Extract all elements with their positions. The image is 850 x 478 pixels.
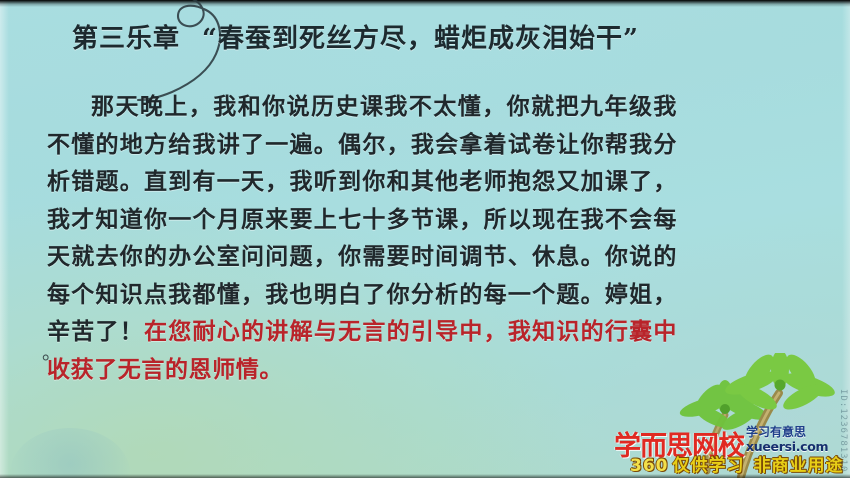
logo-notice-right: 非商业用途	[754, 456, 844, 476]
body-text-black: 那天晚上，我和你说历史课我不太懂，你就把九年级我不懂的地方给我讲了一遍。偶尔，我…	[47, 93, 677, 345]
title-quote: “春蚕到死丝方尽，蜡炬成灰泪始干”	[202, 24, 639, 54]
slide-title: 第三乐章“春蚕到死丝方尽，蜡炬成灰泪始干”	[72, 22, 792, 56]
top-letterbox-band	[0, 0, 850, 7]
left-edge-vignette	[0, 0, 9, 478]
watermark-logo: 学而思网校 学习有意思 xueersi.com 360仅供学习非商业用途	[614, 420, 814, 476]
logo-brand-text: 学而思网校	[614, 424, 744, 463]
logo-notice-left: 仅供学习	[673, 456, 745, 476]
vertical-watermark-code: ID:1236781310	[838, 389, 848, 472]
logo-url: xueersi.com	[746, 439, 826, 454]
background-blob-decoration	[10, 428, 130, 478]
title-chapter: 第三乐章	[72, 24, 180, 54]
right-edge-vignette	[842, 0, 850, 478]
bottom-letterbox-band	[0, 474, 850, 478]
logo-slogan: 学习有意思	[746, 423, 826, 440]
stray-punctuation-mark: 。	[42, 338, 61, 365]
logo-usage-notice: 360仅供学习非商业用途	[630, 451, 844, 476]
slide-body-paragraph: 那天晚上，我和你说历史课我不太懂，你就把九年级我不懂的地方给我讲了一遍。偶尔，我…	[47, 88, 677, 388]
slide-canvas: 第三乐章“春蚕到死丝方尽，蜡炬成灰泪始干” 那天晚上，我和你说历史课我不太懂，你…	[0, 0, 850, 478]
logo-side-block: 学习有意思 xueersi.com	[746, 423, 826, 454]
logo-notice-number: 360	[630, 456, 669, 476]
